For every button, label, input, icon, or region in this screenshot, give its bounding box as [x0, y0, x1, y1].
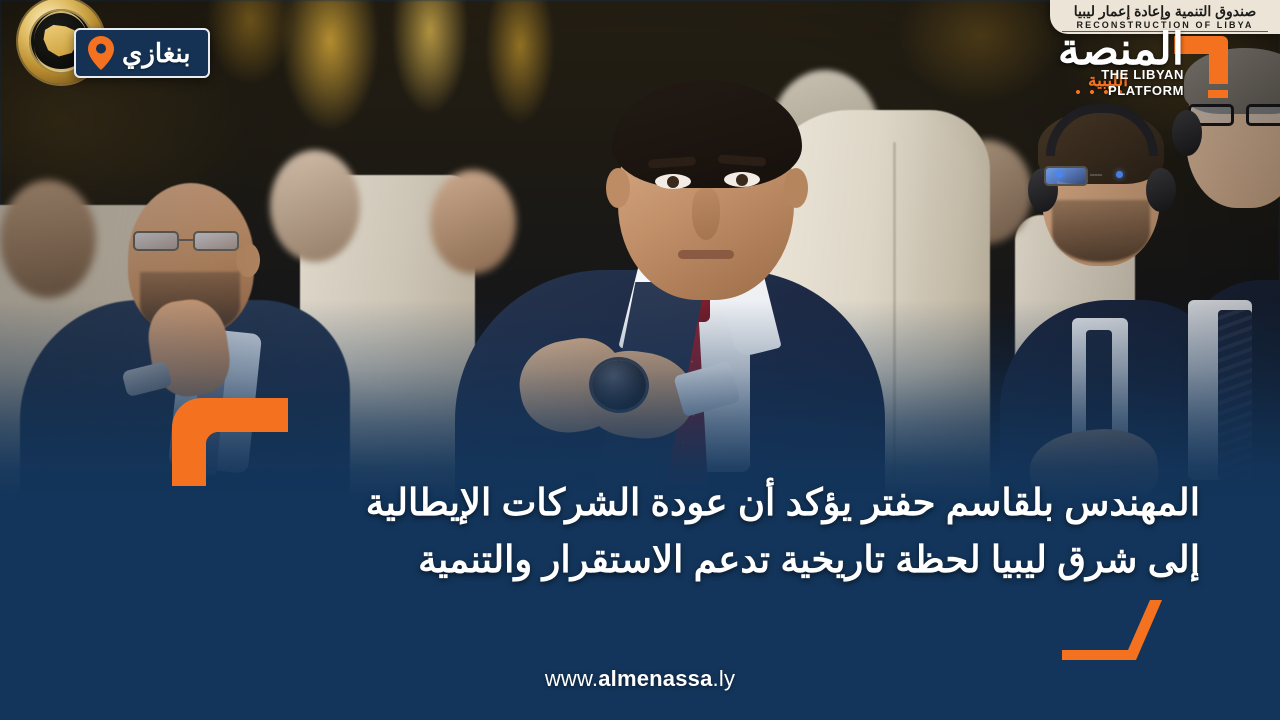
almenassa-logo[interactable]: المنصة الليبية THE LIBYAN PLATFORM [1034, 30, 1246, 98]
brand-english-line2: PLATFORM [1108, 84, 1184, 97]
location-label: بنغازي [122, 40, 190, 66]
website-url[interactable]: www.almenassa.ly [0, 666, 1280, 692]
url-suffix: .ly [713, 666, 736, 691]
reconstruction-arabic-title: صندوق التنمية وإعادة إعمار ليبيا [1074, 4, 1256, 18]
url-prefix: www. [545, 666, 598, 691]
headline: المهندس بلقاسم حفتر يؤكد أن عودة الشركات… [60, 474, 1200, 589]
news-graphic-card: بنغازي صندوق التنمية وإعادة إعمار ليبيا … [0, 0, 1280, 720]
location-pin-icon [88, 36, 114, 70]
headline-line-1: المهندس بلقاسم حفتر يؤكد أن عودة الشركات… [60, 474, 1200, 531]
corner-bracket-bottom-right-icon [1062, 600, 1172, 665]
brand-english-line1: THE LIBYAN [1101, 68, 1184, 81]
location-badge[interactable]: بنغازي [74, 28, 210, 78]
url-name: almenassa [598, 666, 712, 691]
brand-arabic-name: المنصة [1058, 28, 1184, 72]
headline-line-2: إلى شرق ليبيا لحظة تاريخية تدعم الاستقرا… [60, 531, 1200, 588]
